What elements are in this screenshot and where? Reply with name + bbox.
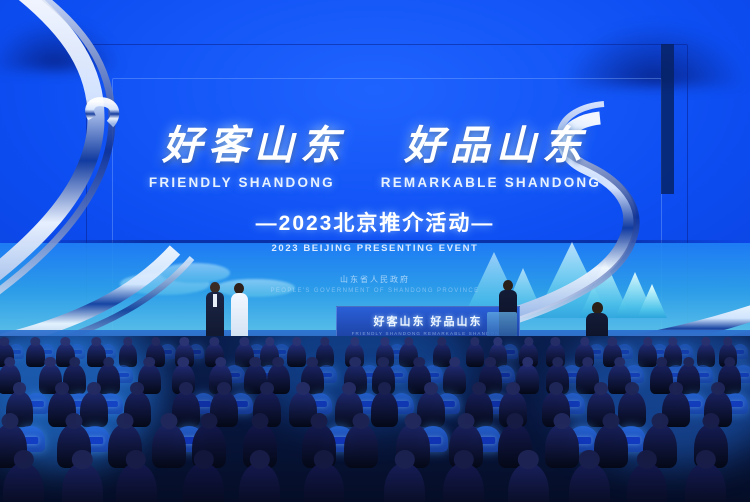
audience-head bbox=[44, 357, 56, 368]
audience-head bbox=[217, 382, 231, 395]
audience-head bbox=[69, 357, 81, 368]
audience-head bbox=[103, 357, 115, 368]
audience-head bbox=[72, 450, 92, 469]
audience-head bbox=[342, 382, 356, 395]
audience-head bbox=[608, 337, 617, 346]
audience-member bbox=[287, 343, 306, 367]
audience-head bbox=[265, 337, 274, 346]
audience-head bbox=[404, 337, 413, 346]
audience-head bbox=[179, 382, 193, 395]
audience-head bbox=[522, 357, 534, 368]
audience-head bbox=[551, 337, 560, 346]
audience-member bbox=[316, 343, 335, 367]
audience-member bbox=[545, 424, 579, 468]
audience-head bbox=[579, 450, 599, 469]
podium-slogan-en: FRIENDLY SHANDONG REMARKABLE SHANDONG bbox=[352, 331, 505, 336]
audience-head bbox=[117, 413, 134, 429]
audience-head bbox=[1, 413, 18, 429]
audience-head bbox=[643, 337, 652, 346]
audience-head bbox=[200, 413, 217, 429]
audience-head bbox=[625, 382, 639, 395]
organizer-cn: 山东省人民政府 bbox=[0, 274, 750, 285]
audience-member bbox=[627, 463, 668, 502]
main-title-en-left: FRIENDLY SHANDONG bbox=[149, 175, 335, 190]
audience-head bbox=[296, 382, 310, 395]
audience-member bbox=[183, 463, 224, 502]
audience-head bbox=[13, 450, 33, 469]
audience-head bbox=[31, 337, 40, 346]
audience-head bbox=[472, 382, 486, 395]
audience-member bbox=[62, 463, 103, 502]
audience-member bbox=[304, 463, 345, 502]
audience-head bbox=[723, 337, 732, 346]
audience-head bbox=[92, 337, 101, 346]
audience-head bbox=[614, 357, 626, 368]
audience-head bbox=[160, 413, 177, 429]
audience-head bbox=[151, 337, 160, 346]
audience-member bbox=[26, 343, 45, 367]
audience-head bbox=[413, 357, 425, 368]
audience-head bbox=[711, 382, 725, 395]
audience-member bbox=[618, 391, 646, 427]
host-female bbox=[229, 283, 249, 342]
audience-head bbox=[457, 413, 474, 429]
audience-head bbox=[485, 357, 497, 368]
audience-head bbox=[652, 413, 669, 429]
audience-head bbox=[350, 357, 362, 368]
audience-head bbox=[4, 357, 16, 368]
audience-member bbox=[344, 424, 378, 468]
audience-head bbox=[126, 450, 146, 469]
organizer-en: PEOPLE'S GOVERNMENT OF SHANDONG PROVINCE bbox=[0, 288, 750, 294]
audience-head bbox=[602, 413, 619, 429]
audience-head bbox=[249, 450, 269, 469]
audience-member bbox=[638, 343, 657, 367]
audience-head bbox=[380, 337, 389, 346]
audience-member bbox=[97, 364, 120, 394]
main-title-cn-right: 好品山东 bbox=[404, 123, 588, 168]
audience-head bbox=[177, 357, 189, 368]
audience-head bbox=[314, 450, 334, 469]
event-title-en: 2023 BEIJING PRESENTING EVENT bbox=[0, 243, 750, 254]
audience-head bbox=[470, 337, 479, 346]
audience-head bbox=[424, 382, 438, 395]
audience-head bbox=[194, 450, 214, 469]
audience-head bbox=[518, 450, 538, 469]
audience-member bbox=[685, 463, 726, 502]
audience-head bbox=[144, 357, 156, 368]
audience-head bbox=[669, 382, 683, 395]
audience-member bbox=[697, 343, 716, 367]
audience-head bbox=[683, 357, 695, 368]
audience-head bbox=[549, 382, 563, 395]
audience-head bbox=[453, 450, 473, 469]
audience-head bbox=[656, 357, 668, 368]
audience-head bbox=[292, 337, 301, 346]
audience-head bbox=[210, 337, 219, 346]
audience-member bbox=[508, 463, 549, 502]
audience-head bbox=[215, 357, 227, 368]
audience-head bbox=[507, 413, 524, 429]
audience-member bbox=[443, 364, 466, 394]
audience-member bbox=[152, 424, 186, 468]
audience-head bbox=[703, 413, 720, 429]
audience-member bbox=[466, 343, 485, 367]
audience-head bbox=[0, 337, 9, 346]
audience-head bbox=[506, 382, 520, 395]
audience-head bbox=[55, 382, 69, 395]
audience-head bbox=[249, 357, 261, 368]
audience-head bbox=[61, 337, 70, 346]
audience-head bbox=[310, 413, 327, 429]
audience-member bbox=[119, 343, 138, 367]
audience-head bbox=[350, 337, 359, 346]
audience-head bbox=[554, 413, 571, 429]
main-title-cn: 好客山东 好品山东 bbox=[0, 126, 750, 166]
audience-head bbox=[701, 337, 710, 346]
audience-head bbox=[594, 382, 608, 395]
audience-head bbox=[307, 357, 319, 368]
audience-head bbox=[66, 413, 83, 429]
audience-head bbox=[13, 382, 27, 395]
lectern bbox=[487, 312, 517, 338]
audience-head bbox=[524, 337, 533, 346]
audience-head bbox=[130, 382, 144, 395]
audience-member bbox=[3, 463, 44, 502]
audience-head bbox=[437, 337, 446, 346]
audience-head bbox=[580, 337, 589, 346]
event-photo: 好客山东 好品山东 FRIENDLY SHANDONG REMARKABLE S… bbox=[0, 0, 750, 502]
audience-head bbox=[273, 357, 285, 368]
audience-head bbox=[668, 337, 677, 346]
audience-head bbox=[552, 357, 564, 368]
audience-member bbox=[116, 463, 157, 502]
audience-head bbox=[582, 357, 594, 368]
main-title-en-right: REMARKABLE SHANDONG bbox=[381, 175, 601, 190]
audience-head bbox=[320, 337, 329, 346]
audience-area bbox=[0, 336, 750, 502]
audience-member bbox=[384, 463, 425, 502]
audience-head bbox=[180, 337, 189, 346]
main-title-cn-left: 好客山东 bbox=[162, 123, 346, 168]
audience-head bbox=[637, 450, 657, 469]
main-title-en: FRIENDLY SHANDONG REMARKABLE SHANDONG bbox=[0, 175, 750, 190]
event-title-cn: —2023北京推介活动— bbox=[0, 207, 750, 237]
audience-head bbox=[352, 413, 369, 429]
audience-member bbox=[443, 463, 484, 502]
audience-member bbox=[569, 463, 610, 502]
audience-head bbox=[87, 382, 101, 395]
screen-title-block: 好客山东 好品山东 FRIENDLY SHANDONG REMARKABLE S… bbox=[0, 126, 750, 294]
audience-head bbox=[123, 337, 132, 346]
audience-head bbox=[394, 450, 414, 469]
audience-head bbox=[252, 413, 269, 429]
audience-member bbox=[80, 391, 108, 427]
audience-head bbox=[240, 337, 249, 346]
host-male bbox=[205, 282, 225, 342]
audience-head bbox=[404, 413, 421, 429]
audience-head bbox=[493, 337, 502, 346]
audience-member bbox=[239, 463, 280, 502]
audience-head bbox=[724, 357, 736, 368]
audience-head bbox=[260, 382, 274, 395]
podium-slogan-cn: 好客山东 好品山东 bbox=[373, 313, 482, 329]
audience-head bbox=[378, 357, 390, 368]
audience-head bbox=[449, 357, 461, 368]
audience-member bbox=[371, 391, 399, 427]
audience-head bbox=[696, 450, 716, 469]
audience-head bbox=[378, 382, 392, 395]
